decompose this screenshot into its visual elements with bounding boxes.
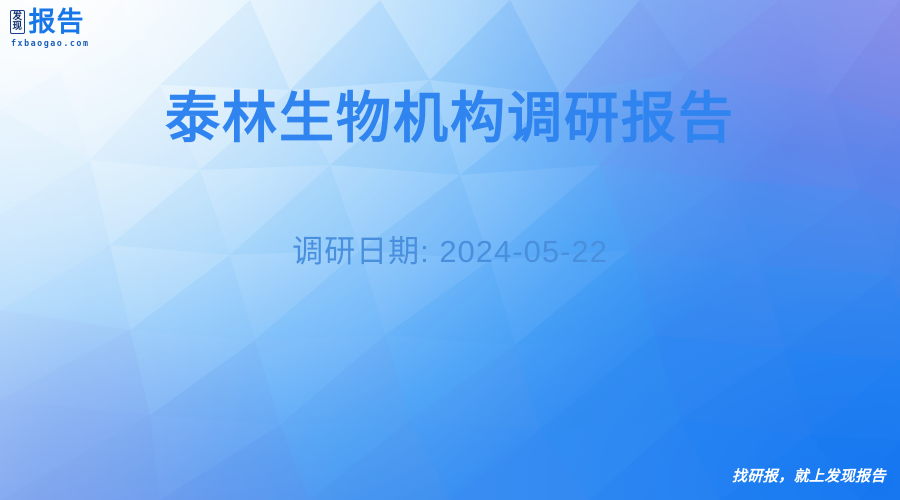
site-logo[interactable]: 发 现 报告 fxbaogao.com bbox=[10, 8, 90, 47]
logo-mark-bottom-char: 现 bbox=[13, 22, 23, 32]
report-cover-slide: 发 现 报告 fxbaogao.com 泰林生物机构调研报告 调研日期: 202… bbox=[0, 0, 900, 500]
page-title: 泰林生物机构调研报告 bbox=[0, 88, 900, 150]
logo-row: 发 现 报告 bbox=[10, 8, 85, 36]
logo-mark-icon: 发 现 bbox=[10, 10, 25, 34]
logo-wordmark: 报告 bbox=[29, 8, 85, 36]
brand-tagline: 找研报，就上发现报告 bbox=[732, 465, 886, 486]
survey-date-subtitle: 调研日期: 2024-05-22 bbox=[0, 233, 900, 270]
logo-url: fxbaogao.com bbox=[11, 39, 90, 47]
